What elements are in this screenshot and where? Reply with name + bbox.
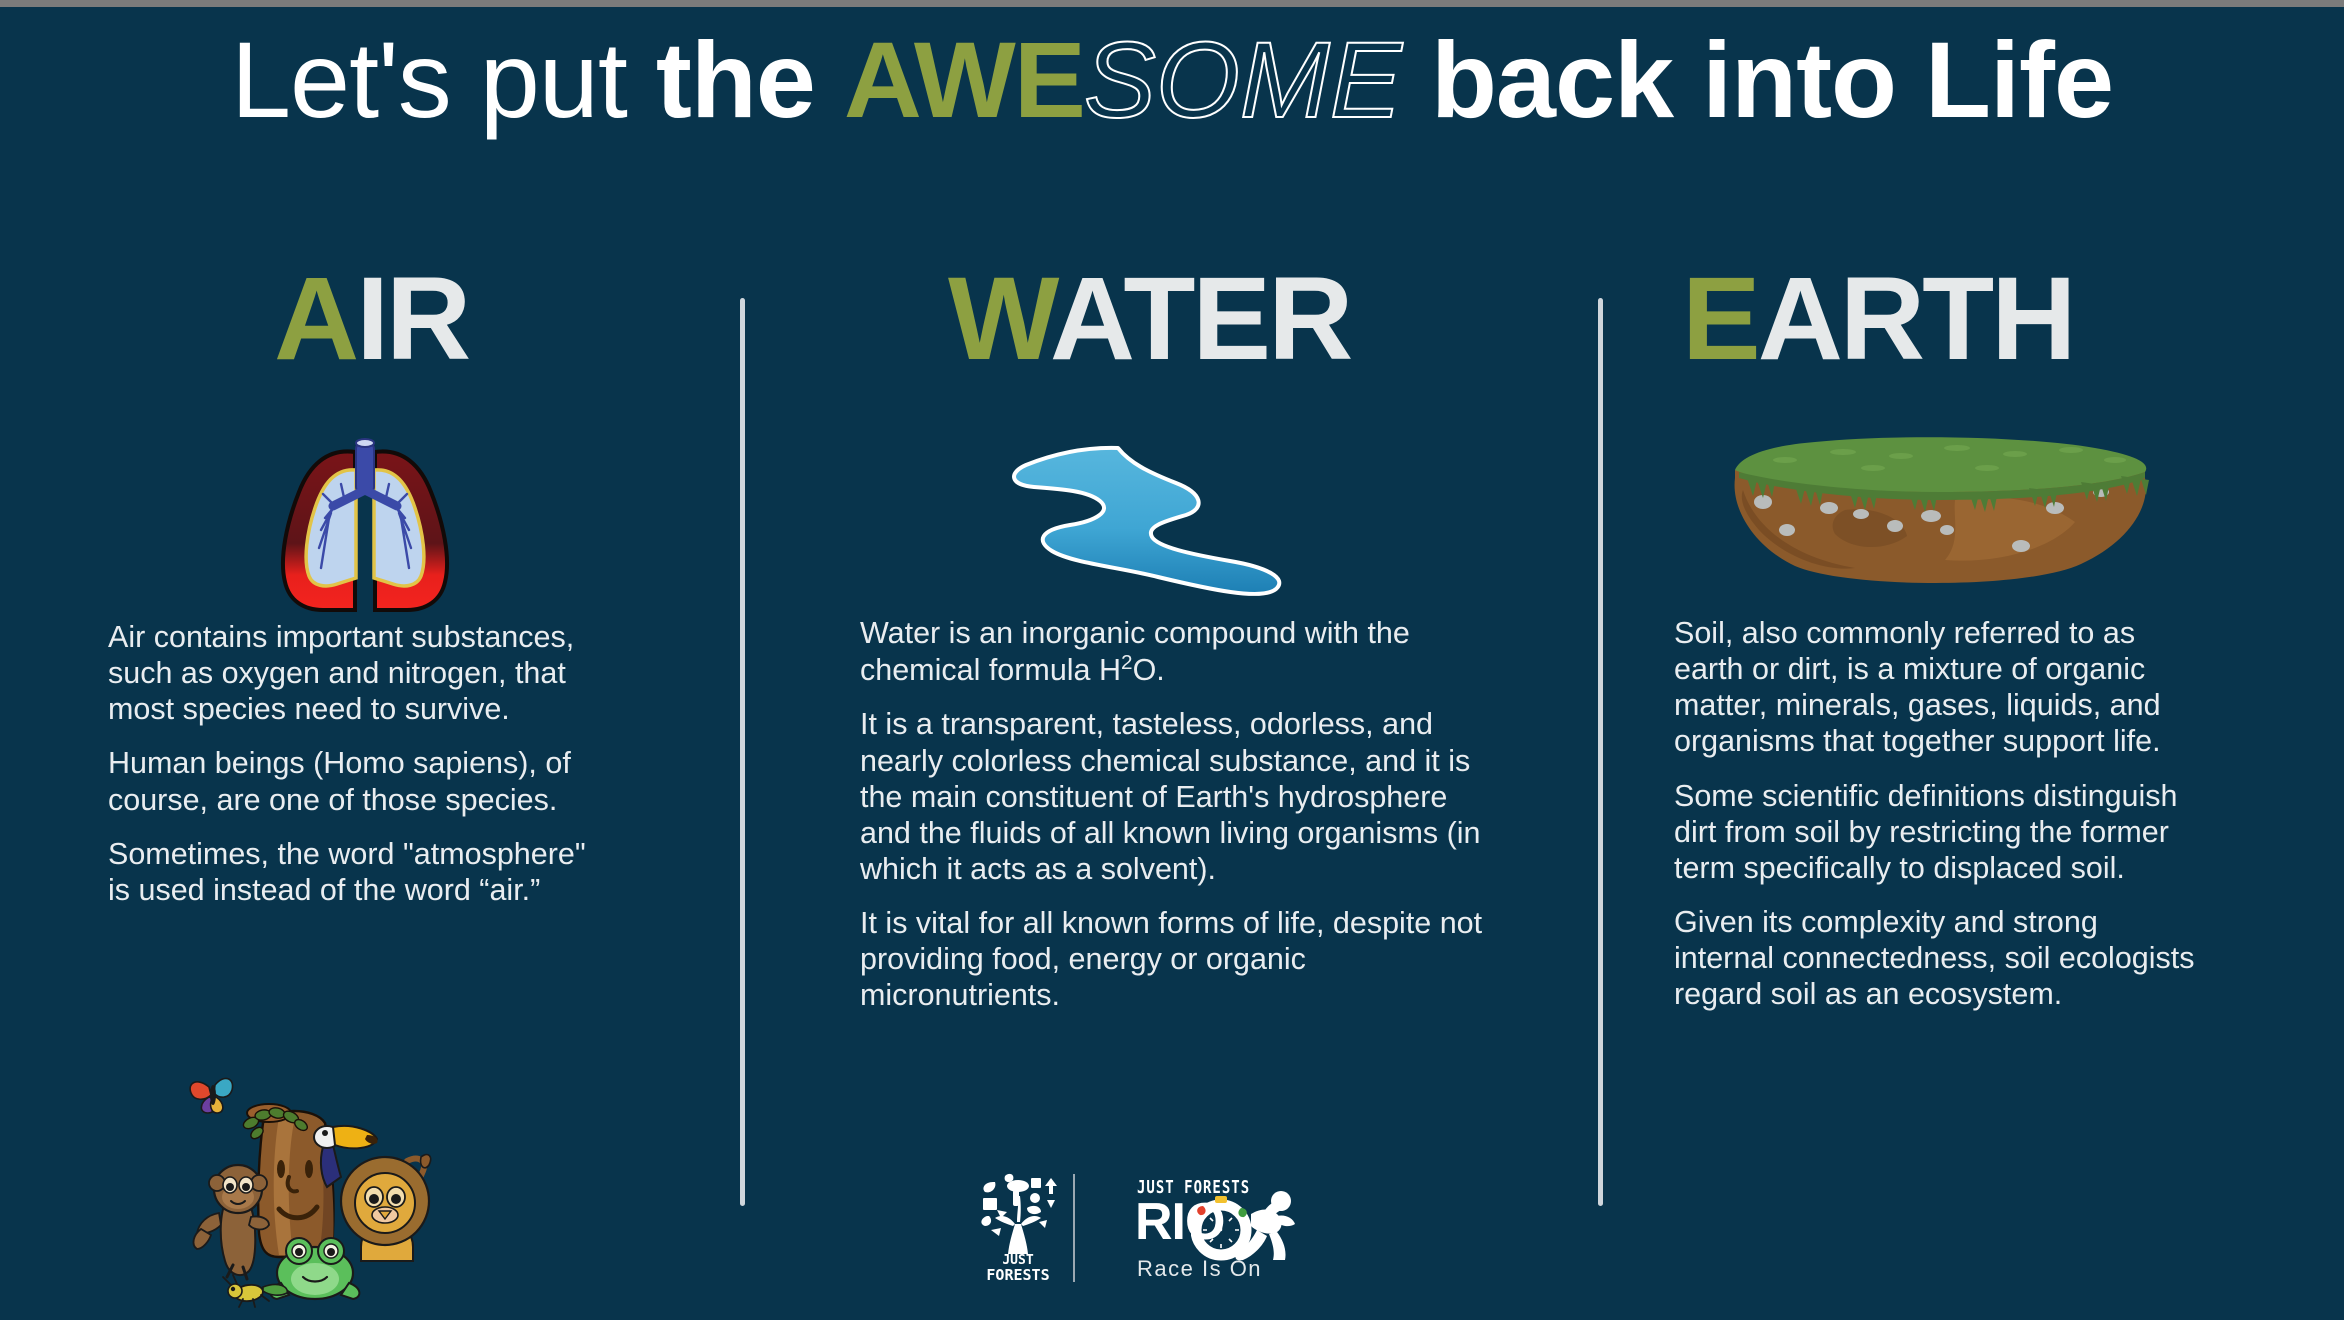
tree-label-forests: FORESTS <box>986 1266 1049 1284</box>
water-paragraph-1: Water is an inorganic compound with the … <box>860 615 1495 688</box>
monkey-icon <box>194 1165 269 1279</box>
title-part-awe: AWE <box>844 19 1084 140</box>
column-earth: EARTH Soil, also commonly referred to as… <box>1660 260 2280 1030</box>
heading-rest-air: IR <box>356 253 468 385</box>
river-icon <box>990 425 1290 615</box>
soil-patch-icon <box>1725 430 2155 585</box>
column-body-air: Air contains important substances, such … <box>100 619 600 908</box>
column-heading-air: AIR <box>100 260 700 378</box>
heading-lead-letter-water: W <box>948 253 1050 385</box>
water-formula-superscript: 2 <box>1121 651 1133 674</box>
just-forests-tree-icon: JUST FORESTS <box>975 1172 1061 1284</box>
heading-rest-water: ATER <box>1050 253 1350 385</box>
infographic-canvas: Let's put the AWESOME back into Life AIR… <box>0 0 2344 1320</box>
earth-paragraph-3: Given its complexity and strong internal… <box>1674 904 2205 1012</box>
title-part-the: the <box>656 19 844 140</box>
air-paragraph-2: Human beings (Homo sapiens), of course, … <box>108 745 600 817</box>
butterfly-icon <box>190 1078 232 1113</box>
heading-lead-letter-earth: E <box>1682 253 1758 385</box>
column-divider-right <box>1598 298 1603 1206</box>
heading-rest-earth: ARTH <box>1758 253 2074 385</box>
column-water: WATER Water is an inorganic compound wit… <box>860 260 1540 1032</box>
column-heading-water: WATER <box>860 260 1540 378</box>
title-part-some: SOME <box>1084 19 1402 140</box>
column-body-earth: Soil, also commonly referred to as earth… <box>1660 615 2205 1012</box>
logo-separator <box>1073 1174 1075 1282</box>
water-paragraph-3: It is vital for all known forms of life,… <box>860 905 1495 1013</box>
water-formula-suffix: O. <box>1133 653 1165 687</box>
wildlife-group-icon <box>175 1065 445 1310</box>
earth-paragraph-1: Soil, also commonly referred to as earth… <box>1674 615 2205 760</box>
air-paragraph-3: Sometimes, the word "atmosphere" is used… <box>108 836 600 908</box>
column-body-water: Water is an inorganic compound with the … <box>860 615 1495 1014</box>
heading-lead-letter-air: A <box>274 253 356 385</box>
earth-paragraph-2: Some scientific definitions distinguish … <box>1674 778 2205 886</box>
column-divider-left <box>740 298 745 1206</box>
title-part-back-into-life: back into Life <box>1402 19 2113 140</box>
stopwatch-runner-icon <box>1191 1188 1299 1264</box>
column-heading-earth: EARTH <box>1660 260 2280 378</box>
lion-icon <box>341 1155 431 1261</box>
footer-logo: JUST FORESTS JUST FORESTS RIO Race Is On <box>975 1168 1305 1288</box>
rio-wordmark-block: JUST FORESTS RIO Race Is On <box>1095 1172 1295 1284</box>
page-title: Let's put the AWESOME back into Life <box>0 26 2344 134</box>
water-paragraph-2: It is a transparent, tasteless, odorless… <box>860 706 1495 887</box>
air-paragraph-1: Air contains important substances, such … <box>108 619 600 727</box>
lungs-icon <box>255 418 475 623</box>
title-part-lets-put: Let's put <box>231 19 656 140</box>
top-edge-bar <box>0 0 2344 7</box>
